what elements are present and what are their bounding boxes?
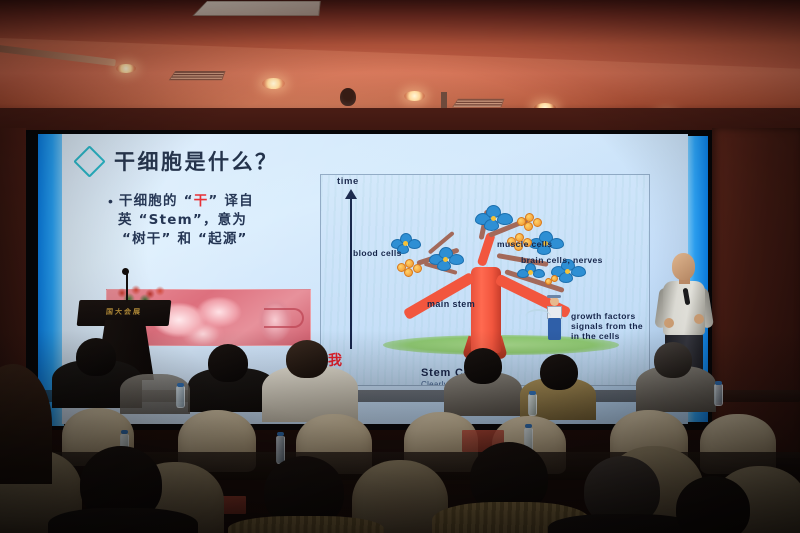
watering-hose <box>525 309 551 325</box>
bullet-text-line-1: 干细胞的 “干” 译自 <box>119 192 254 211</box>
label-growth-factors: growth factors <box>571 311 636 321</box>
bullet-text-line-2: 英 “Stem”，意为 <box>118 211 298 230</box>
slide-title: 干细胞是什么？ <box>114 146 279 176</box>
gardener-head <box>550 297 559 306</box>
bullet-line1-post: ” 译自 <box>208 193 253 209</box>
bullet-text-line-3: “树干” 和 “起源” <box>122 230 298 249</box>
podium-mic-stand <box>126 272 128 302</box>
audience-shadow-gradient <box>0 330 800 533</box>
ceiling-downlight <box>116 64 136 73</box>
time-axis-line <box>350 197 352 349</box>
label-blood-cells: blood cells <box>353 248 402 258</box>
pipette-shape <box>264 308 304 328</box>
podium-mic-head <box>122 268 129 275</box>
ceiling-speaker <box>340 88 356 106</box>
presenter-head <box>672 253 695 280</box>
hvac-vent <box>169 71 226 80</box>
presenter-hand-right <box>694 314 704 324</box>
conference-room-photo: 干细胞是什么？ • 干细胞的 “干” 译自 英 “Stem”，意为 “树干” 和… <box>0 0 800 533</box>
slide-bullet-block: • 干细胞的 “干” 译自 英 “Stem”，意为 “树干” 和 “起源” <box>108 192 298 249</box>
slide-title-row: 干细胞是什么？ <box>78 146 279 176</box>
diamond-outline-icon <box>73 145 106 178</box>
label-brain-cells: brain cells, nerves <box>521 255 603 265</box>
ceiling-access-panel <box>192 1 320 16</box>
ceiling-downlight <box>262 78 285 89</box>
presenter-hand-left <box>664 318 674 328</box>
hvac-vent <box>452 99 505 108</box>
bullet-marker: • <box>108 192 113 211</box>
ceiling-downlight <box>404 91 425 101</box>
time-axis-label: time <box>337 176 359 187</box>
bullet-highlight: 干 <box>194 193 209 209</box>
ceiling <box>0 0 800 118</box>
podium-plate-text: 国大会展 <box>83 307 164 317</box>
bullet-line1-pre: 干细胞的 “ <box>119 193 194 209</box>
label-main-stem: main stem <box>427 299 475 309</box>
label-muscle-cells: muscle cells <box>497 239 552 249</box>
bullet-line-1: • 干细胞的 “干” 译自 <box>108 192 298 211</box>
audience-area <box>0 330 800 533</box>
gardener-hat <box>547 295 561 298</box>
